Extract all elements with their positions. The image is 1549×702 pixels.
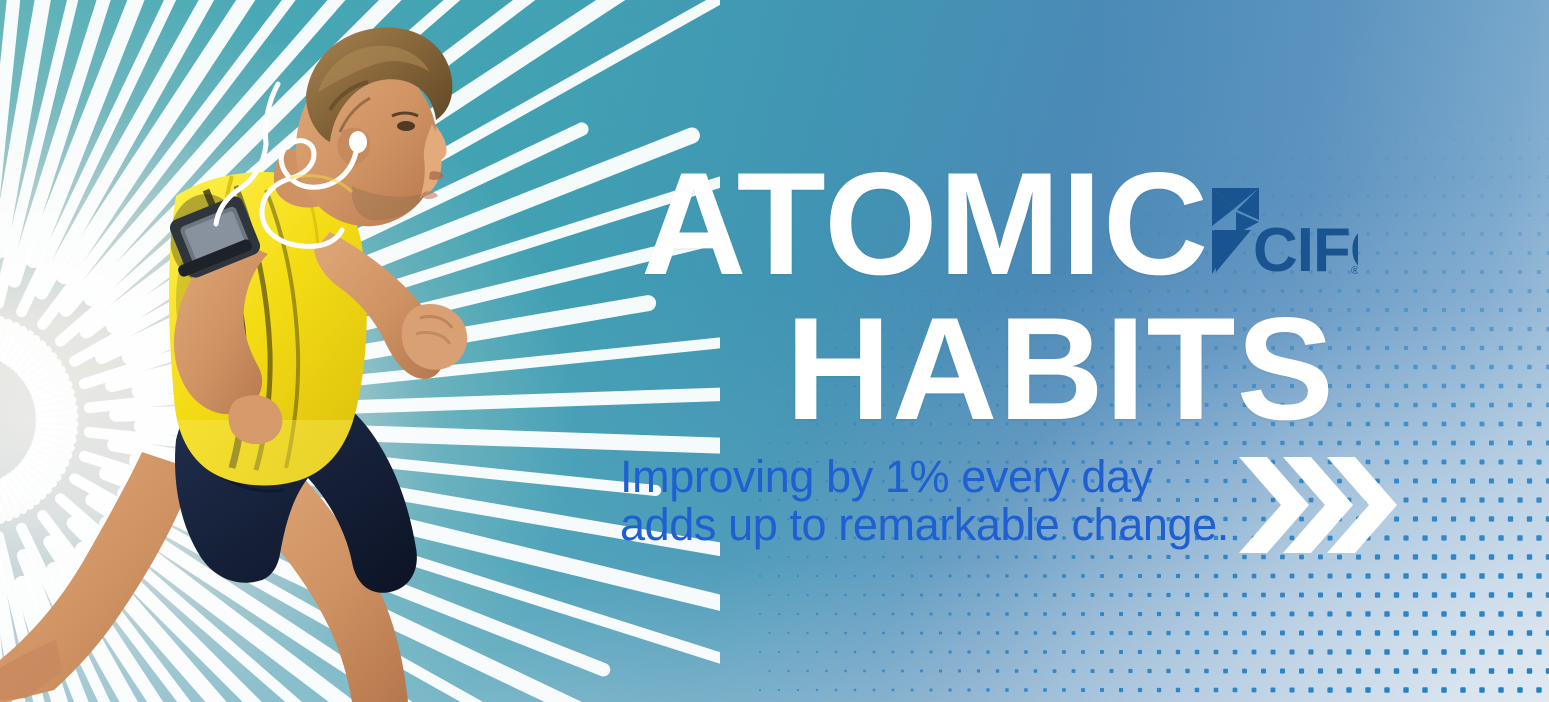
svg-text:CIFO: CIFO — [1253, 216, 1358, 278]
forward-chevrons[interactable] — [1239, 455, 1397, 555]
tagline-line-2: adds up to remarkable change. — [620, 501, 1260, 549]
cifo-wordmark: CIFO — [1253, 216, 1358, 278]
tagline: Improving by 1% every day adds up to rem… — [620, 453, 1260, 549]
atomic-habits-banner: ATOMIC HABITS CIFO ® Improving by 1% eve… — [0, 0, 1549, 702]
registered-trademark: ® — [1351, 265, 1358, 277]
tagline-line-1: Improving by 1% every day — [620, 453, 1260, 501]
headline-line-2: HABITS — [641, 297, 1341, 440]
cifo-logo[interactable]: CIFO ® — [1203, 186, 1358, 278]
cifo-origami-bird-mark — [1212, 188, 1259, 274]
